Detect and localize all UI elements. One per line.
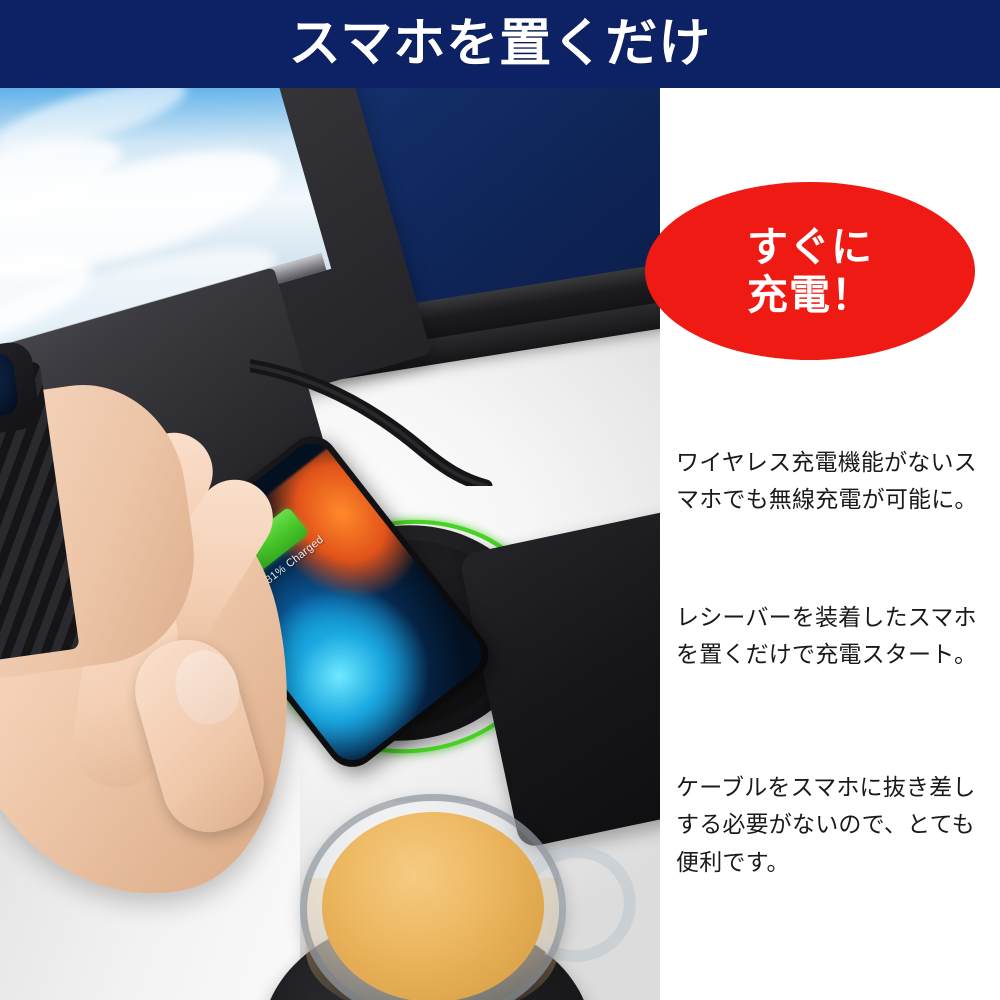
speech-bubble-text: すぐに 充電！ — [645, 182, 975, 360]
header-bar: スマホを置くだけ — [0, 0, 1000, 88]
product-photo: delete return shift — [0, 88, 660, 1000]
description-paragraph-1: ワイヤレス充電機能がないスマホでも無線充電が可能に。 — [676, 445, 994, 520]
description-paragraph-2: レシーバーを装着したスマホを置くだけで充電スタート。 — [676, 600, 994, 675]
coffee-liquid — [322, 812, 544, 1000]
speech-bubble-line-2: 充電！ — [747, 271, 873, 319]
speech-bubble-line-1: すぐに — [747, 223, 873, 271]
product-infographic: スマホを置くだけ delete return shift — [0, 0, 1000, 1000]
speech-bubble: すぐに 充電！ — [645, 182, 975, 360]
page-title: スマホを置くだけ — [0, 0, 1000, 88]
description-paragraph-3: ケーブルをスマホに抜き差しする必要がないので、とても便利です。 — [676, 770, 994, 882]
